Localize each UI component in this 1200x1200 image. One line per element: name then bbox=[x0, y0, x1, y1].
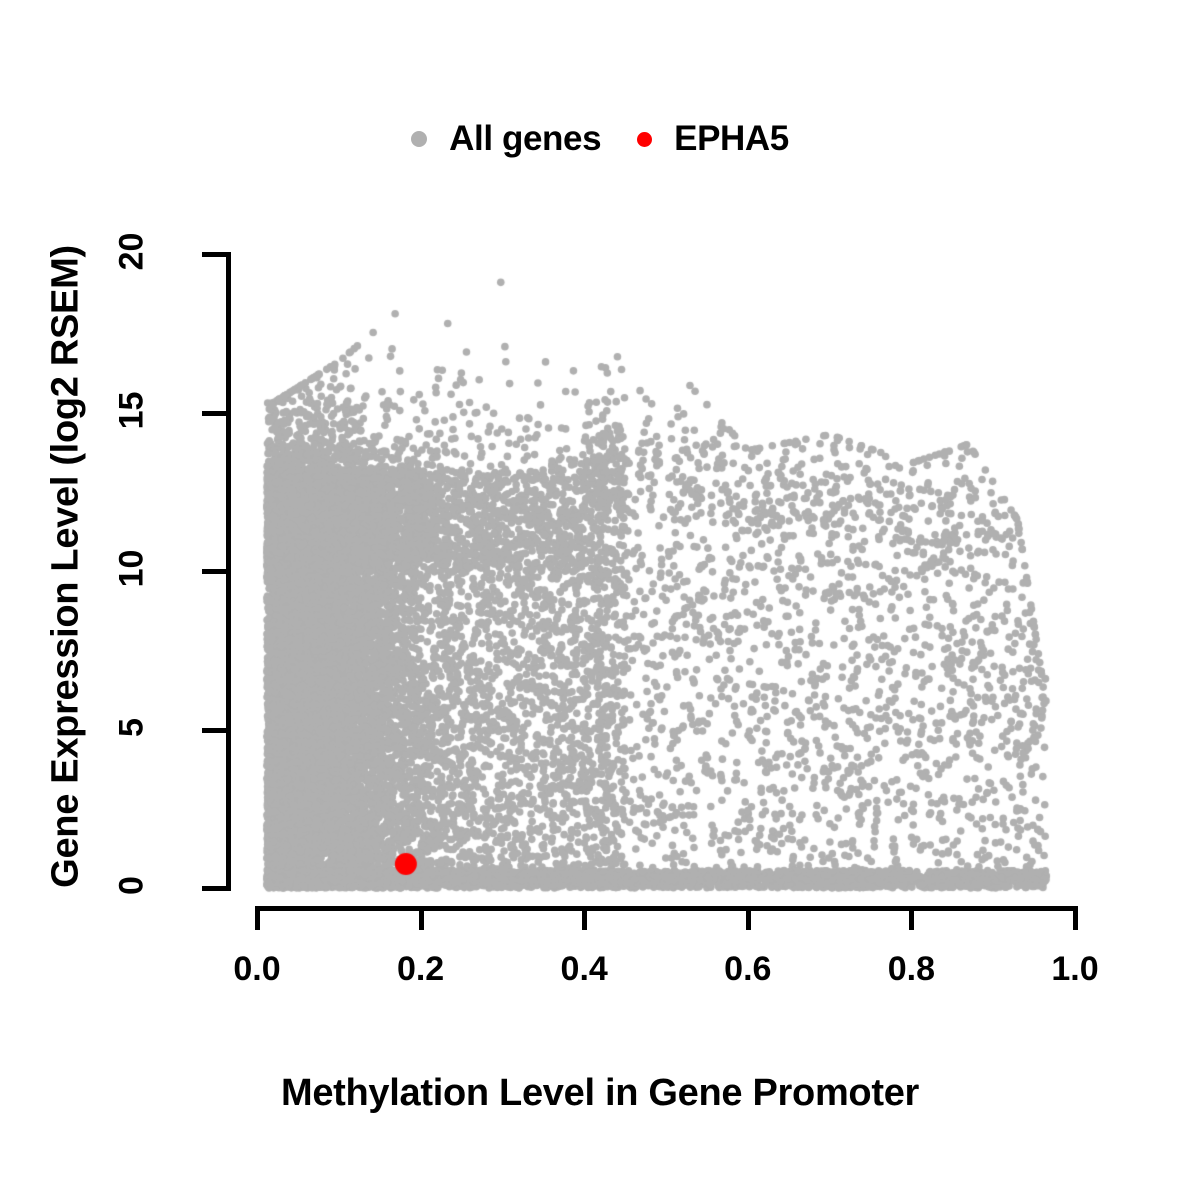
legend-item-all-genes: All genes bbox=[411, 119, 601, 159]
y-axis-tick bbox=[202, 252, 231, 257]
y-axis-tick bbox=[202, 569, 231, 574]
scatter-point-epha5-highlight bbox=[0, 0, 1200, 1200]
x-axis-line bbox=[257, 906, 1075, 911]
x-axis-tick bbox=[582, 906, 587, 930]
chart-legend: All genes EPHA5 bbox=[0, 106, 1200, 172]
y-axis-tick bbox=[202, 411, 231, 416]
legend-item-epha5: EPHA5 bbox=[637, 119, 789, 159]
x-axis-tick-label: 0.2 bbox=[361, 950, 481, 989]
x-axis-tick-label: 0.8 bbox=[851, 950, 971, 989]
x-axis-tick-label: 0.6 bbox=[688, 950, 808, 989]
y-axis-tick bbox=[202, 886, 231, 891]
x-axis-title: Methylation Level in Gene Promoter bbox=[0, 1072, 1200, 1115]
y-axis-tick-label: 5 bbox=[113, 667, 152, 787]
x-axis-tick-label: 0.4 bbox=[524, 950, 644, 989]
legend-label-all-genes: All genes bbox=[449, 119, 601, 159]
y-axis-tick-label: 10 bbox=[113, 509, 152, 629]
y-axis-tick-label: 20 bbox=[113, 192, 152, 312]
scatter-points-all-genes bbox=[0, 0, 1200, 1200]
y-axis-tick-label: 0 bbox=[113, 826, 152, 946]
x-axis-tick bbox=[419, 906, 424, 930]
x-axis-tick bbox=[746, 906, 751, 930]
legend-label-epha5: EPHA5 bbox=[674, 119, 789, 159]
x-axis-tick bbox=[909, 906, 914, 930]
x-axis-tick bbox=[255, 906, 260, 930]
y-axis-title-wrap: Gene Expression Level (log2 RSEM) bbox=[0, 0, 72, 1200]
scatter-plot-figure: All genes EPHA5 0.00.20.40.60.81.0051015… bbox=[0, 0, 1200, 1200]
y-axis-tick-label: 15 bbox=[113, 350, 152, 470]
x-axis-tick-label: 0.0 bbox=[197, 950, 317, 989]
legend-marker-red-dot-icon bbox=[637, 132, 652, 147]
y-axis-title: Gene Expression Level (log2 RSEM) bbox=[45, 67, 88, 1067]
x-axis-tick-label: 1.0 bbox=[1015, 950, 1135, 989]
y-axis-tick bbox=[202, 728, 231, 733]
legend-marker-gray-dot-icon bbox=[411, 131, 427, 147]
x-axis-tick bbox=[1073, 906, 1078, 930]
